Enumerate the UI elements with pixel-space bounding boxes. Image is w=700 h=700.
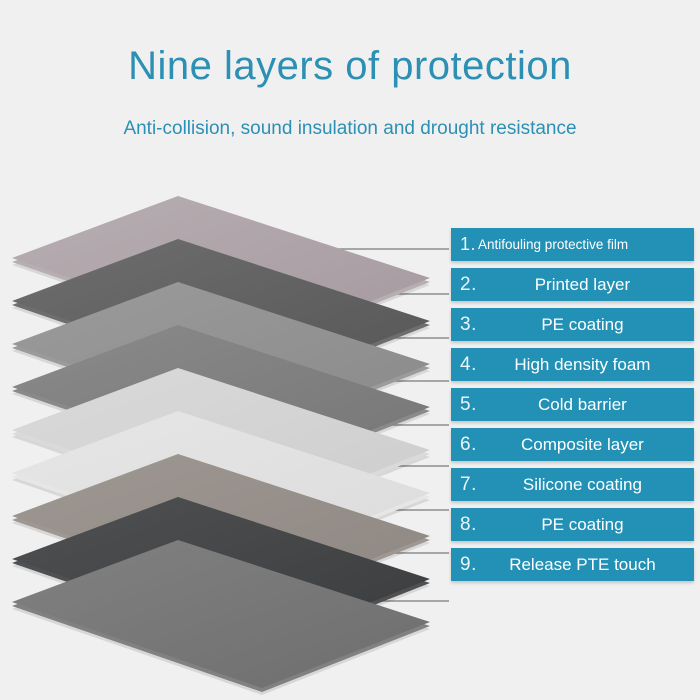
layer-label-6[interactable]: 6.Composite layer — [451, 428, 694, 461]
layer-label-text: Release PTE touch — [477, 555, 694, 575]
layer-label-text: High density foam — [477, 355, 694, 375]
layer-label-7[interactable]: 7.Silicone coating — [451, 468, 694, 501]
layer-label-text: Printed layer — [477, 275, 694, 295]
layer-label-number: 5. — [451, 394, 477, 416]
nine-layers-infographic: Nine layers of protection Anti-collision… — [0, 0, 700, 700]
layer-label-4[interactable]: 4.High density foam — [451, 348, 694, 381]
layer-label-number: 1. — [451, 234, 476, 255]
layer-label-text: Cold barrier — [477, 395, 694, 415]
layer-label-text: PE coating — [477, 515, 694, 535]
layer-label-list: 1.Antifouling protective film2.Printed l… — [451, 228, 694, 588]
layer-label-text: Silicone coating — [477, 475, 694, 495]
layer-label-text: Composite layer — [477, 435, 694, 455]
layer-label-3[interactable]: 3.PE coating — [451, 308, 694, 341]
layer-label-number: 3. — [451, 314, 477, 336]
layer-label-number: 9. — [451, 554, 477, 576]
layer-label-number: 4. — [451, 354, 477, 376]
layer-label-8[interactable]: 8.PE coating — [451, 508, 694, 541]
layer-label-9[interactable]: 9.Release PTE touch — [451, 548, 694, 581]
layer-stack-diagram — [0, 0, 440, 700]
layer-label-5[interactable]: 5.Cold barrier — [451, 388, 694, 421]
layer-label-number: 8. — [451, 514, 477, 536]
layer-label-number: 6. — [451, 434, 477, 456]
layer-label-number: 2. — [451, 274, 477, 296]
layer-label-number: 7. — [451, 474, 477, 496]
layer-label-text: Antifouling protective film — [476, 237, 694, 252]
layer-label-text: PE coating — [477, 315, 694, 335]
layer-face[interactable] — [12, 540, 430, 688]
layer-label-1[interactable]: 1.Antifouling protective film — [451, 228, 694, 261]
layer-sheet-9 — [0, 540, 440, 700]
layer-label-2[interactable]: 2.Printed layer — [451, 268, 694, 301]
